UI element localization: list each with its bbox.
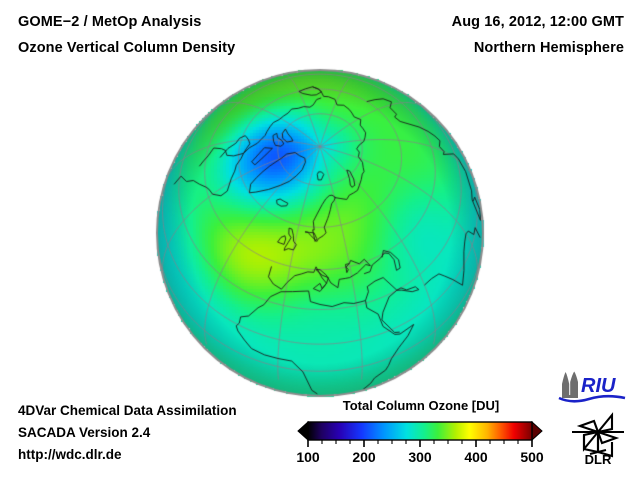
colorbar-tick-label: 400 — [464, 449, 488, 465]
dlr-logo: DLR — [568, 412, 628, 466]
footer-credits: 4DVar Chemical Data Assimilation SACADA … — [18, 400, 318, 466]
region-label: Northern Hemisphere — [474, 40, 624, 56]
colorbar-tick-label: 500 — [520, 449, 544, 465]
dlr-logo-text: DLR — [585, 452, 612, 466]
riu-logo: RIU — [556, 371, 628, 405]
colorbar-title: Total Column Ozone [DU] — [296, 398, 546, 413]
colorbar-arrow-right — [532, 422, 542, 440]
header-line-1: GOME−2 / MetOp Analysis Aug 16, 2012, 12… — [18, 14, 624, 36]
colorbar-arrow-left — [298, 422, 308, 440]
footer-method: 4DVar Chemical Data Assimilation — [18, 400, 318, 422]
riu-logo-text: RIU — [581, 375, 616, 397]
footer-version: SACADA Version 2.4 — [18, 422, 318, 444]
riu-tower-icon — [562, 372, 578, 399]
colorbar-tick-label: 200 — [352, 449, 376, 465]
dlr-pinwheel-icon — [572, 415, 624, 456]
colorbar-tick-label: 300 — [408, 449, 432, 465]
page-subtitle: Ozone Vertical Column Density — [18, 40, 235, 56]
colorbar-gradient — [308, 422, 532, 440]
page-title: GOME−2 / MetOp Analysis — [18, 14, 201, 30]
header: GOME−2 / MetOp Analysis Aug 16, 2012, 12… — [0, 0, 640, 64]
colorbar-scale: 100200300400500 — [296, 418, 546, 470]
footer-url[interactable]: http://wdc.dlr.de — [18, 444, 318, 466]
header-line-2: Ozone Vertical Column Density Northern H… — [18, 40, 624, 62]
colorbar-tick-label: 100 — [296, 449, 320, 465]
colorbar: Total Column Ozone [DU] 100200300400500 — [296, 398, 546, 470]
valid-time-label: Aug 16, 2012, 12:00 GMT — [452, 14, 624, 30]
